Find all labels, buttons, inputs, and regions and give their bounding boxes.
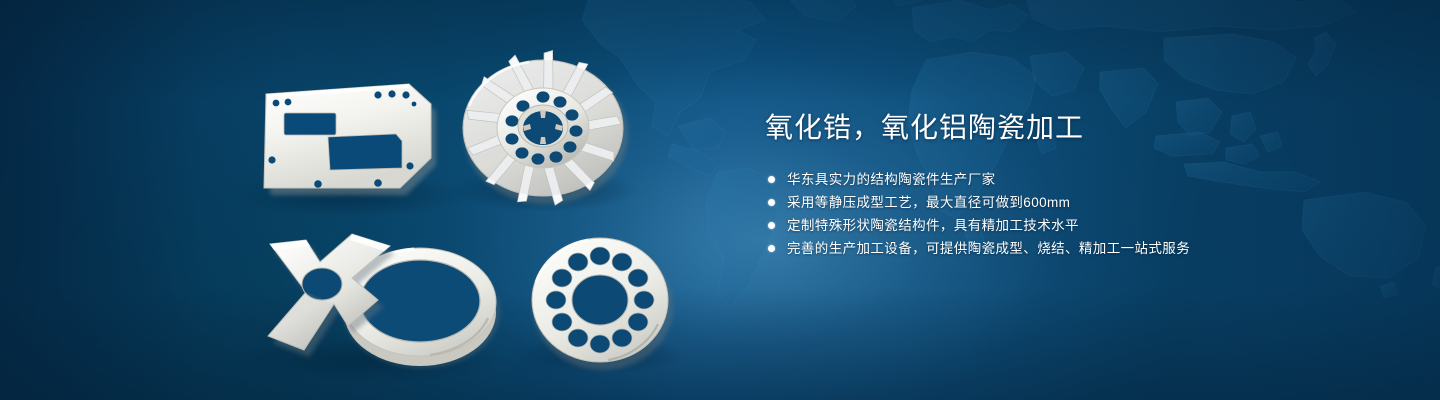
list-item: 完善的生产加工设备，可提供陶瓷成型、烧结、精加工一站式服务 [765, 237, 1405, 260]
bullet-icon [768, 176, 775, 183]
bullet-icon [768, 245, 775, 252]
hero-banner: 氧化锆，氧化铝陶瓷加工 华东具实力的结构陶瓷件生产厂家 采用等静压成型工艺，最大… [0, 0, 1440, 400]
list-item: 采用等静压成型工艺，最大直径可做到600mm [765, 191, 1405, 214]
feature-list: 华东具实力的结构陶瓷件生产厂家 采用等静压成型工艺，最大直径可做到600mm 定… [765, 168, 1405, 260]
list-item: 华东具实力的结构陶瓷件生产厂家 [765, 168, 1405, 191]
list-item: 定制特殊形状陶瓷结构件，具有精加工技术水平 [765, 214, 1405, 237]
bullet-icon [768, 222, 775, 229]
page-title: 氧化锆，氧化铝陶瓷加工 [765, 108, 1405, 148]
bullet-icon [768, 199, 775, 206]
product-photo-collage [0, 0, 720, 400]
list-item-label: 定制特殊形状陶瓷结构件，具有精加工技术水平 [787, 218, 1079, 233]
list-item-label: 采用等静压成型工艺，最大直径可做到600mm [787, 195, 1070, 210]
banner-copy: 氧化锆，氧化铝陶瓷加工 华东具实力的结构陶瓷件生产厂家 采用等静压成型工艺，最大… [765, 108, 1405, 260]
list-item-label: 完善的生产加工设备，可提供陶瓷成型、烧结、精加工一站式服务 [787, 241, 1190, 256]
list-item-label: 华东具实力的结构陶瓷件生产厂家 [787, 172, 996, 187]
